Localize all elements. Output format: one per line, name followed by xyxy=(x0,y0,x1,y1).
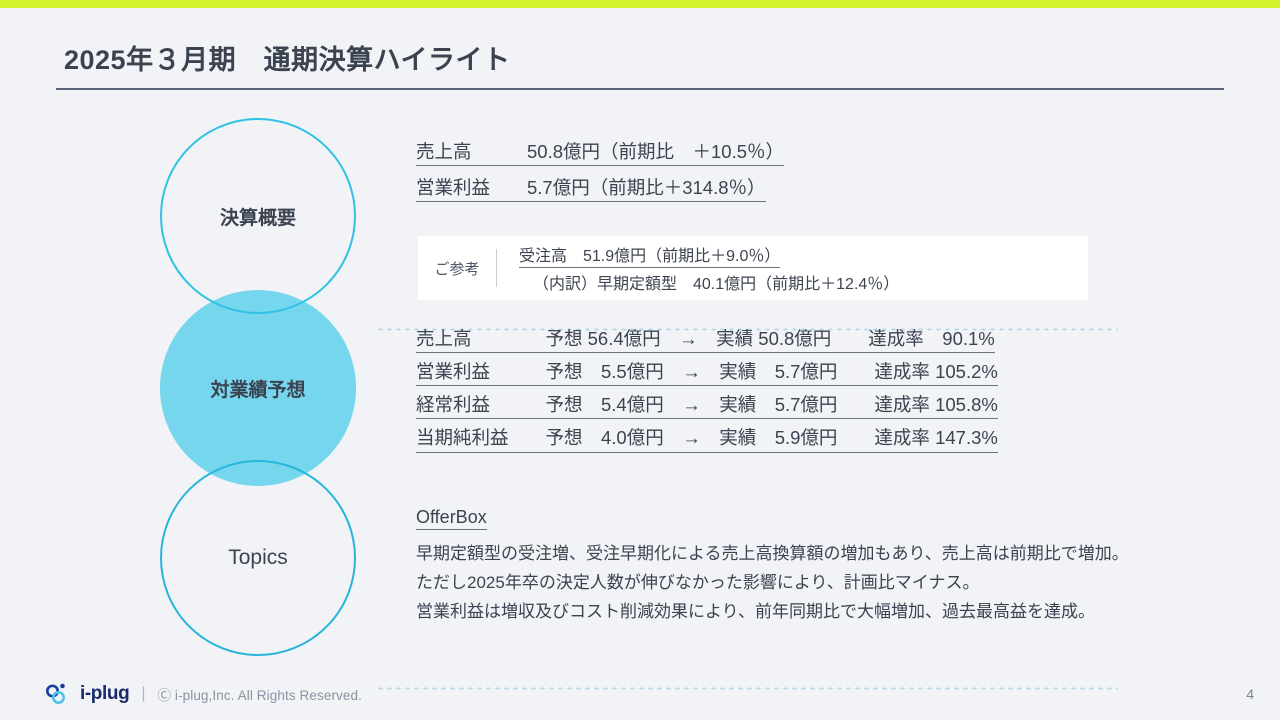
page-title: 2025年３月期 通期決算ハイライト xyxy=(64,38,511,77)
reference-label: ご参考 xyxy=(418,258,496,279)
reference-breakdown-line: （内訳）早期定額型 40.1億円（前期比＋12.4％） xyxy=(519,270,899,294)
forecast-section: 売上高 予想 56.4億円 → 実績 50.8億円 達成率 90.1% 営業利益… xyxy=(416,327,1216,460)
page-number: 4 xyxy=(1246,686,1254,702)
title-divider xyxy=(56,88,1224,90)
forecast-row-operating-profit: 営業利益 予想 5.5億円 → 実績 5.7億円 達成率 105.2% xyxy=(416,360,998,386)
topics-line-2: ただし2025年卒の決定人数が伸びなかった影響により、計画比マイナス。 xyxy=(416,568,1226,597)
footer: i-plug | Ⓒ i-plug,Inc. All Rights Reserv… xyxy=(44,682,362,706)
topics-line-1: 早期定額型の受注増、受注早期化による売上高換算額の増加もあり、売上高は前期比で増… xyxy=(416,539,1226,568)
i-plug-wordmark: i-plug xyxy=(80,683,129,705)
i-plug-logo-icon xyxy=(44,682,70,706)
dotted-divider-2 xyxy=(376,687,1118,690)
summary-section: 売上高 50.8億円（前期比 ＋10.5％） 営業利益 5.7億円（前期比＋31… xyxy=(416,140,1216,212)
section-nav-circles: 決算概要 対業績予想 Topics xyxy=(160,112,360,652)
section-circle-topics[interactable]: Topics xyxy=(160,460,356,656)
topics-section: OfferBox 早期定額型の受注増、受注早期化による売上高換算額の増加もあり、… xyxy=(416,507,1226,627)
section-circle-summary-label: 決算概要 xyxy=(220,203,296,230)
forecast-row-revenue: 売上高 予想 56.4億円 → 実績 50.8億円 達成率 90.1% xyxy=(416,327,995,353)
top-accent-bar xyxy=(0,0,1280,8)
reference-box: ご参考 受注高 51.9億円（前期比＋9.0％） （内訳）早期定額型 40.1億… xyxy=(418,236,1088,300)
reference-orders-line: 受注高 51.9億円（前期比＋9.0％） xyxy=(519,242,780,268)
section-circle-summary[interactable]: 決算概要 xyxy=(160,118,356,314)
copyright-text: Ⓒ i-plug,Inc. All Rights Reserved. xyxy=(157,684,361,704)
topics-line-3: 営業利益は増収及びコスト削減効果により、前年同期比で大幅増加、過去最高益を達成。 xyxy=(416,597,1226,626)
forecast-row-ordinary-profit: 経常利益 予想 5.4億円 → 実績 5.7億円 達成率 105.8% xyxy=(416,393,998,419)
footer-separator: | xyxy=(141,685,145,703)
summary-row-revenue: 売上高 50.8億円（前期比 ＋10.5％） xyxy=(416,140,784,166)
section-circle-forecast[interactable]: 対業績予想 xyxy=(160,290,356,486)
section-circle-forecast-label: 対業績予想 xyxy=(210,375,305,402)
forecast-row-net-income: 当期純利益 予想 4.0億円 → 実績 5.9億円 達成率 147.3% xyxy=(416,426,998,452)
reference-lines: 受注高 51.9億円（前期比＋9.0％） （内訳）早期定額型 40.1億円（前期… xyxy=(497,242,899,294)
section-circle-topics-label: Topics xyxy=(228,546,288,570)
topics-heading: OfferBox xyxy=(416,507,487,530)
summary-row-operating-profit: 営業利益 5.7億円（前期比＋314.8％） xyxy=(416,176,766,202)
